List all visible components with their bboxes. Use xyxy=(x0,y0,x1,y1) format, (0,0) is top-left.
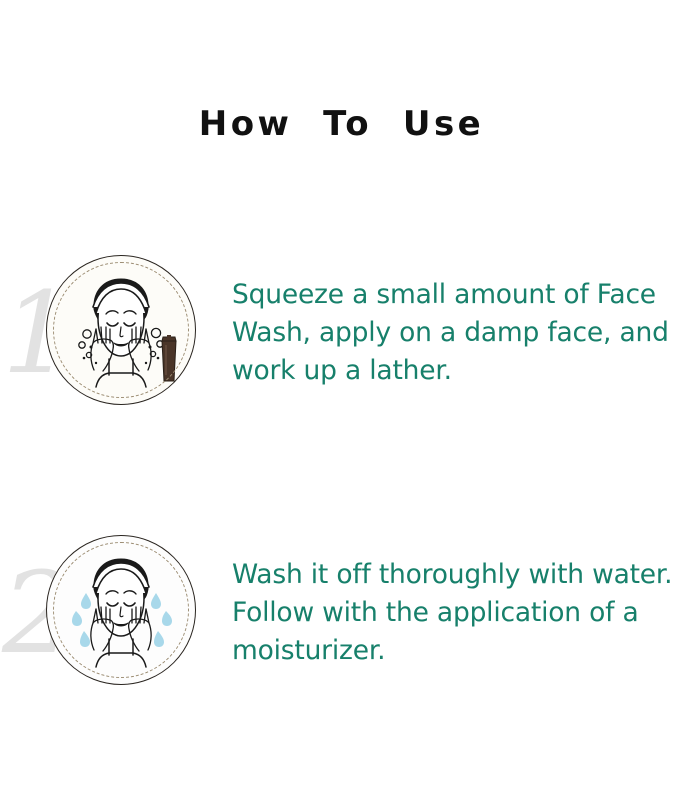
step-description-2: Wash it off thoroughly with water. Follo… xyxy=(232,556,682,670)
how-to-use-panel: How To Use 1 xyxy=(0,0,683,800)
step-illustration-1 xyxy=(46,255,196,405)
badge-outer-ring xyxy=(46,535,196,685)
step-description-1: Squeeze a small amount of Face Wash, app… xyxy=(232,276,682,390)
badge-outer-ring xyxy=(46,255,196,405)
page-title: How To Use xyxy=(0,104,683,144)
step-illustration-2 xyxy=(46,535,196,685)
